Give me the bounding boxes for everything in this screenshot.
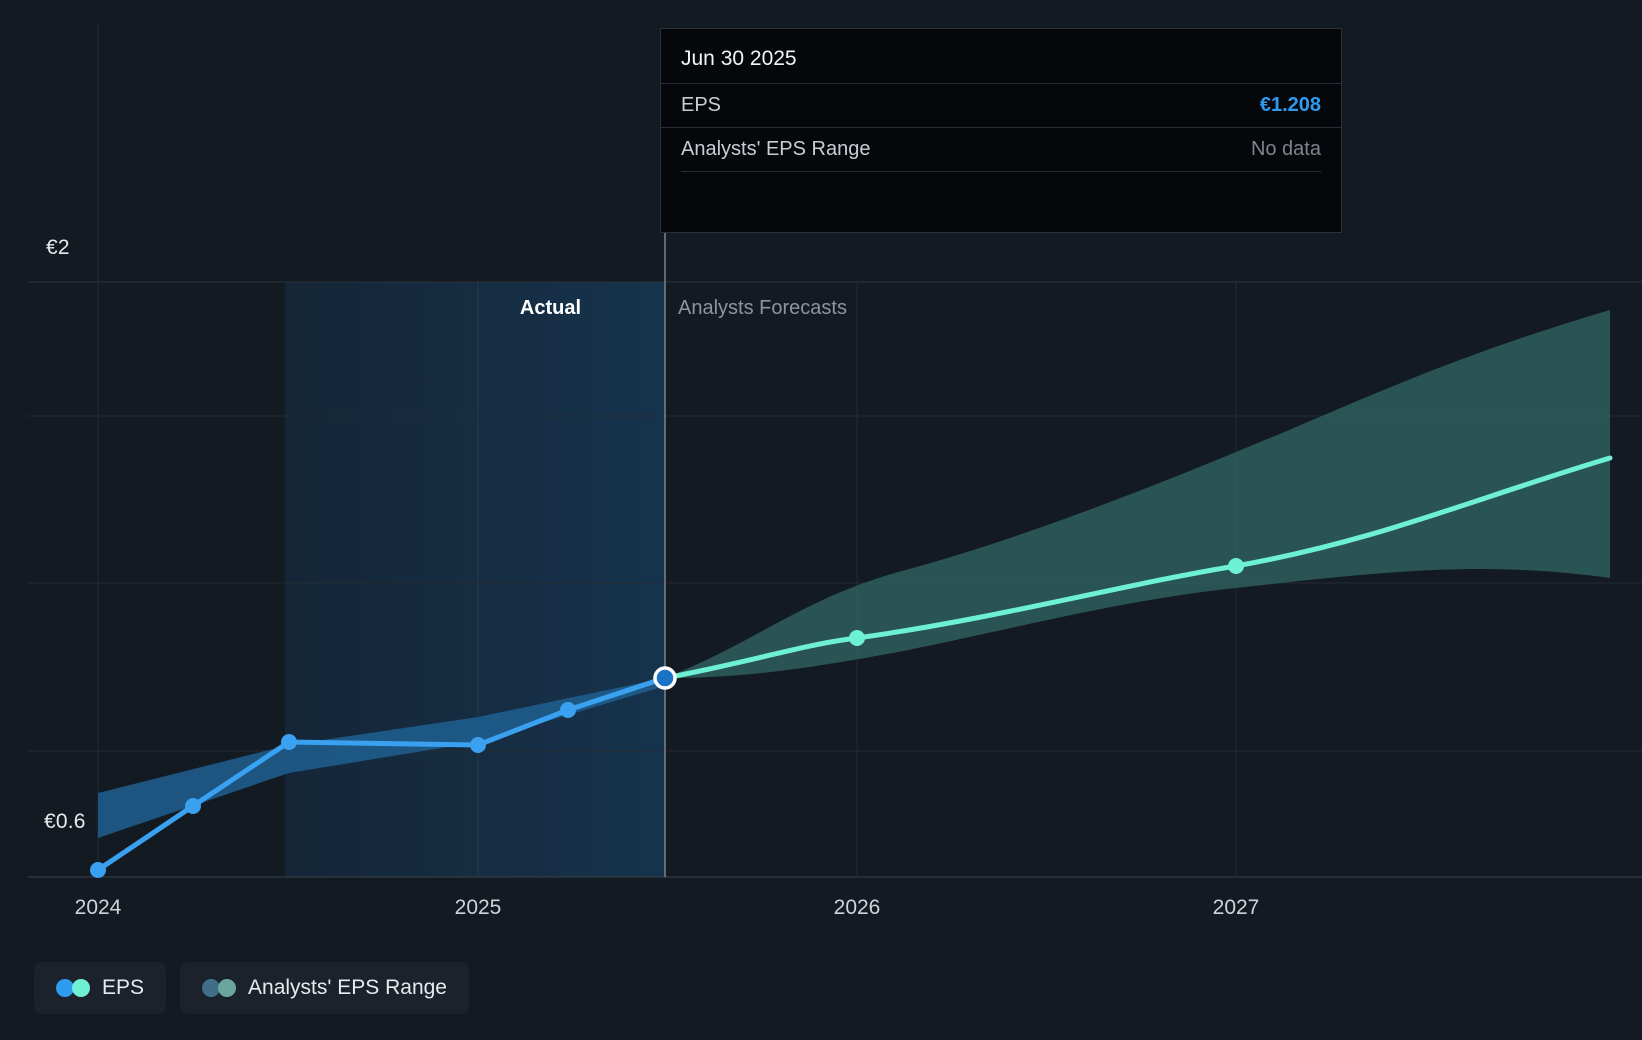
- y-axis-tick-top: €2: [46, 236, 70, 260]
- tooltip-range-value: No data: [1251, 138, 1321, 161]
- x-axis-tick-2027: 2027: [1186, 896, 1286, 920]
- tooltip-spacer: [681, 171, 1321, 232]
- tooltip-date: Jun 30 2025: [661, 29, 1341, 83]
- series-dot-icon: [56, 979, 90, 997]
- tooltip-row-eps: EPS €1.208: [661, 83, 1341, 127]
- tooltip-range-label: Analysts' EPS Range: [681, 138, 870, 161]
- tooltip-eps-label: EPS: [681, 94, 721, 117]
- forecast-region-label: Analysts Forecasts: [678, 297, 847, 320]
- legend-label-analysts-range: Analysts' EPS Range: [248, 976, 447, 1000]
- data-point-forecast: [1228, 558, 1244, 574]
- analysts-range-band-forecast: [665, 310, 1610, 678]
- x-axis-tick-2026: 2026: [807, 896, 907, 920]
- tooltip-eps-value: €1.208: [1260, 94, 1321, 117]
- x-axis-tick-2024: 2024: [48, 896, 148, 920]
- y-axis-tick-bottom: €0.6: [44, 810, 86, 834]
- actual-region-highlight: [285, 282, 665, 877]
- actual-region-label: Actual: [520, 297, 581, 320]
- eps-forecast-chart: €2 €0.6 2024 2025 2026 2027 Actual Analy…: [0, 0, 1642, 1040]
- data-point-actual: [185, 798, 201, 814]
- data-point-actual: [470, 737, 486, 753]
- data-point-forecast: [849, 630, 865, 646]
- legend-item-eps[interactable]: EPS: [34, 962, 166, 1014]
- data-point-actual: [560, 702, 576, 718]
- data-point-actual: [281, 734, 297, 750]
- x-axis-tick-2025: 2025: [428, 896, 528, 920]
- series-dot-icon: [202, 979, 236, 997]
- data-point-actual: [90, 862, 106, 878]
- tooltip-row-range: Analysts' EPS Range No data: [661, 127, 1341, 171]
- selected-data-point: [655, 668, 675, 688]
- chart-tooltip: Jun 30 2025 EPS €1.208 Analysts' EPS Ran…: [660, 28, 1342, 233]
- chart-legend: EPS Analysts' EPS Range: [34, 962, 469, 1014]
- legend-label-eps: EPS: [102, 976, 144, 1000]
- legend-item-analysts-range[interactable]: Analysts' EPS Range: [180, 962, 469, 1014]
